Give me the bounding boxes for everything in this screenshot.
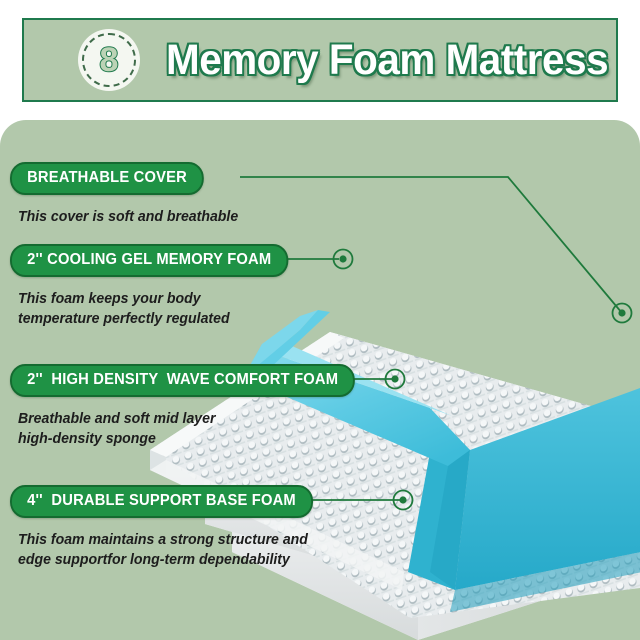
infographic-page: 8 Memory Foam Mattress: [0, 0, 640, 640]
layer-label-cooling-gel-memory-foam[interactable]: 2'' COOLING GEL MEMORY FOAM: [10, 244, 288, 277]
page-title: Memory Foam Mattress: [166, 36, 608, 85]
numbered-circle-badge: 8: [78, 29, 140, 91]
callout-cooling-gel-memory-foam: 2'' COOLING GEL MEMORY FOAM This foam ke…: [10, 244, 303, 329]
layer-label-durable-support-base-foam[interactable]: 4'' DURABLE SUPPORT BASE FOAM: [10, 485, 313, 518]
layer-description-durable-support-base-foam: This foam maintains a strong structure a…: [18, 530, 310, 570]
layer-description-cooling-gel-memory-foam: This foam keeps your body temperature pe…: [18, 289, 286, 329]
callout-durable-support-base-foam: 4'' DURABLE SUPPORT BASE FOAM This foam …: [10, 485, 329, 570]
target-dot-icon: [334, 250, 632, 510]
layer-label-high-density-wave-comfort-foam[interactable]: 2'' HIGH DENSITY WAVE COMFORT FOAM: [10, 364, 355, 397]
badge-number: 8: [100, 43, 119, 77]
layer-description-high-density-wave-comfort-foam: Breathable and soft mid layer high-densi…: [18, 409, 352, 449]
main-panel: BREATHABLE COVER This cover is soft and …: [0, 120, 640, 640]
callout-high-density-wave-comfort-foam: 2'' HIGH DENSITY WAVE COMFORT FOAM Breat…: [10, 364, 373, 449]
callout-breathable-cover: BREATHABLE COVER This cover is soft and …: [10, 162, 252, 227]
header-bar: 8 Memory Foam Mattress: [22, 18, 618, 102]
layer-description-breathable-cover: This cover is soft and breathable: [18, 207, 238, 227]
layer-label-breathable-cover[interactable]: BREATHABLE COVER: [10, 162, 204, 195]
